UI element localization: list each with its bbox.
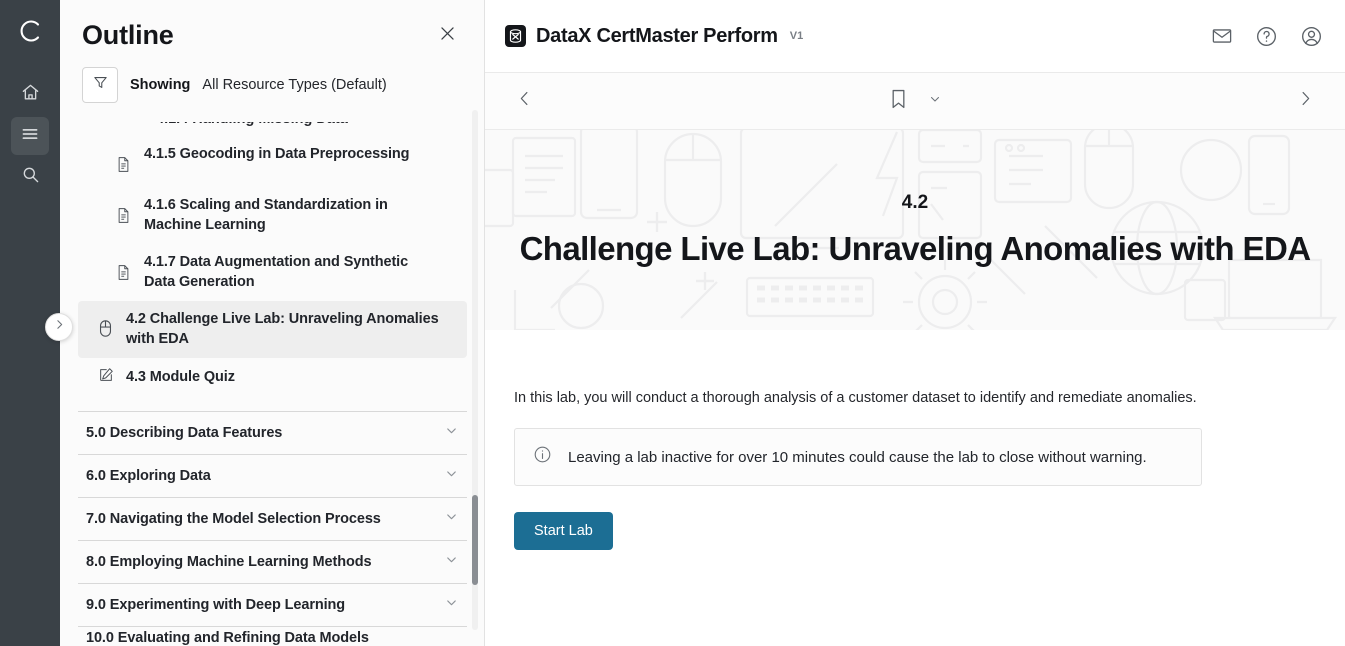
filter-showing-label: Showing (130, 77, 190, 93)
section-label: 9.0 Experimenting with Deep Learning (86, 597, 345, 613)
section-label: 7.0 Navigating the Model Selection Proce… (86, 511, 381, 527)
info-circle-icon (533, 445, 552, 469)
filter-button[interactable] (82, 67, 118, 103)
list-item-current[interactable]: 4.2 Challenge Live Lab: Unraveling Anoma… (78, 301, 467, 358)
section-row[interactable]: 8.0 Employing Machine Learning Methods (78, 541, 467, 584)
document-icon (116, 207, 134, 229)
section-label: 10.0 Evaluating and Refining Data Models (86, 630, 369, 646)
header-icons (1211, 25, 1323, 48)
list-item-label: 4.1.6 Scaling and Standardization in Mac… (144, 196, 439, 235)
chevron-right-icon (1296, 89, 1315, 113)
chevron-down-icon (444, 552, 459, 572)
app-header: DataX CertMaster Perform V1 (485, 0, 1345, 73)
outline-scrollbar[interactable] (472, 110, 478, 630)
document-icon (116, 264, 134, 286)
close-icon (438, 24, 457, 48)
expand-panel-button[interactable] (45, 313, 73, 341)
bookmark-button[interactable] (889, 88, 908, 115)
chevron-down-icon (444, 423, 459, 443)
outline-scroll-area: 4.1.4 Handling Missing Data 4.1.5 Geocod… (60, 122, 485, 646)
chevron-left-icon (515, 89, 534, 113)
list-item-label: 4.1.7 Data Augmentation and Synthetic Da… (144, 253, 439, 292)
list-item[interactable]: 4.1.6 Scaling and Standardization in Mac… (78, 187, 467, 244)
hero-number: 4.2 (902, 192, 928, 214)
list-item-label: 4.2 Challenge Live Lab: Unraveling Anoma… (126, 310, 439, 349)
app-root: Outline Showing All Resource Types (Defa… (0, 0, 1345, 646)
section-row[interactable]: 6.0 Exploring Data (78, 455, 467, 498)
chevron-down-icon (444, 509, 459, 529)
page-title: Challenge Live Lab: Unraveling Anomalies… (520, 230, 1311, 268)
section-label: 6.0 Exploring Data (86, 468, 211, 484)
list-item-label: 4.3 Module Quiz (126, 368, 235, 388)
inactivity-notice: Leaving a lab inactive for over 10 minut… (514, 428, 1202, 486)
close-outline-button[interactable] (432, 21, 462, 51)
mouse-icon (98, 319, 116, 343)
bookmark-dropdown-button[interactable] (928, 92, 942, 111)
chevron-down-icon (928, 92, 942, 111)
c-logo[interactable] (13, 14, 47, 48)
section-row[interactable]: 7.0 Navigating the Model Selection Proce… (78, 498, 467, 541)
rail-item-search[interactable] (11, 158, 49, 196)
user-account-icon[interactable] (1300, 25, 1323, 48)
lab-body: In this lab, you will conduct a thorough… (485, 330, 1345, 550)
outline-header: Outline (60, 0, 484, 57)
document-icon (116, 156, 134, 178)
content-navbar (485, 73, 1345, 130)
brand: DataX CertMaster Perform V1 (505, 25, 803, 48)
clipped-lesson-above: 4.1.4 Handling Missing Data (60, 122, 485, 136)
search-icon (21, 165, 40, 189)
rail-item-outline[interactable] (11, 117, 49, 155)
filter-value[interactable]: All Resource Types (Default) (202, 77, 386, 93)
previous-page-button[interactable] (515, 89, 534, 113)
scrollbar-thumb[interactable] (472, 495, 478, 585)
start-lab-button[interactable]: Start Lab (514, 512, 613, 550)
list-item-label: 4.1.5 Geocoding in Data Preprocessing (144, 145, 409, 165)
bookmark-icon (889, 88, 908, 115)
database-x-icon (505, 25, 526, 47)
chevron-right-icon (53, 318, 66, 336)
outline-title: Outline (82, 20, 174, 51)
next-page-button[interactable] (1296, 89, 1315, 113)
section-label: 5.0 Describing Data Features (86, 425, 282, 441)
hamburger-menu-icon (20, 124, 40, 149)
filter-icon (92, 74, 109, 96)
list-item[interactable]: 4.1.5 Geocoding in Data Preprocessing (78, 136, 467, 187)
notice-text: Leaving a lab inactive for over 10 minut… (568, 449, 1147, 466)
section-list: 5.0 Describing Data Features 6.0 Explori… (78, 411, 467, 646)
list-item[interactable]: 4.3 Module Quiz (78, 358, 467, 397)
section-row[interactable]: 10.0 Evaluating and Refining Data Models (78, 627, 467, 646)
home-icon (21, 83, 40, 107)
mail-icon[interactable] (1211, 25, 1233, 47)
rail-item-home[interactable] (11, 76, 49, 114)
hero-banner: 4.2 Challenge Live Lab: Unraveling Anoma… (485, 130, 1345, 330)
help-circle-icon[interactable] (1255, 25, 1278, 48)
section-row[interactable]: 5.0 Describing Data Features (78, 412, 467, 455)
main-content: DataX CertMaster Perform V1 (485, 0, 1345, 646)
version-badge: V1 (790, 30, 803, 42)
pencil-edit-icon (98, 367, 116, 388)
list-item[interactable]: 4.1.7 Data Augmentation and Synthetic Da… (78, 244, 467, 301)
section-row[interactable]: 9.0 Experimenting with Deep Learning (78, 584, 467, 627)
chevron-down-icon (444, 595, 459, 615)
chevron-down-icon (444, 466, 459, 486)
bookmark-group (889, 88, 942, 115)
filter-row: Showing All Resource Types (Default) (60, 57, 484, 109)
lab-intro-text: In this lab, you will conduct a thorough… (514, 390, 1345, 406)
brand-name: DataX CertMaster Perform (536, 25, 778, 48)
outline-panel: Outline Showing All Resource Types (Defa… (60, 0, 485, 646)
section-label: 8.0 Employing Machine Learning Methods (86, 554, 371, 570)
